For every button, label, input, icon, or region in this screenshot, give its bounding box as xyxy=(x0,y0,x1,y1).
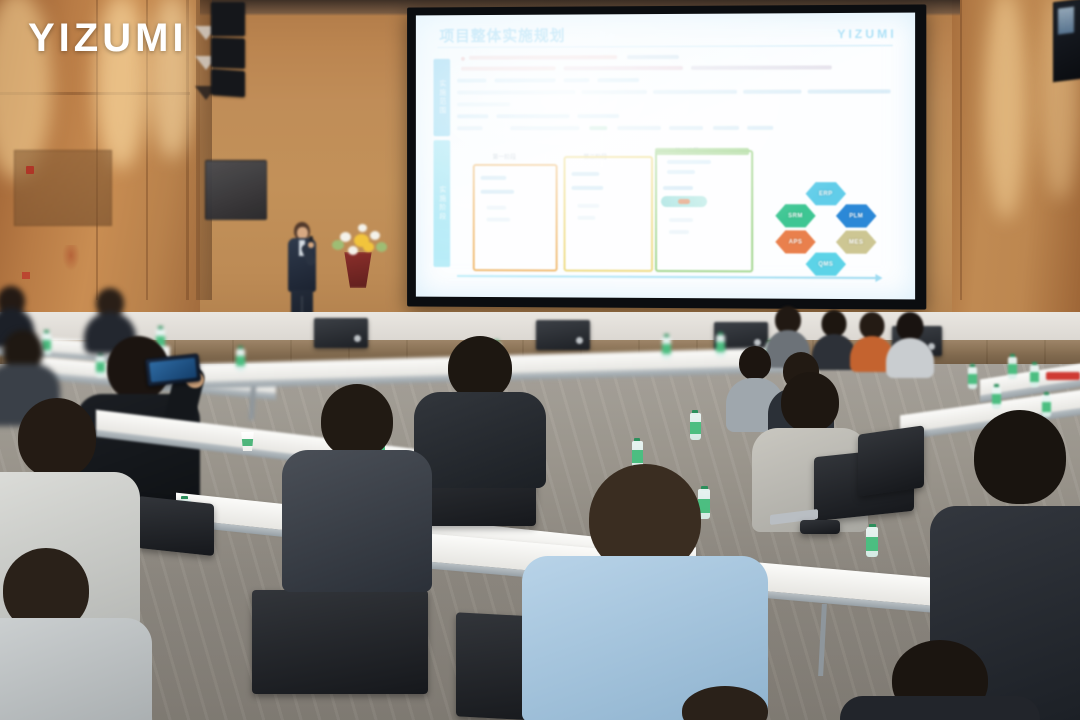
slide-text-line xyxy=(457,90,575,94)
conference-photo: 项目整体实施规划 YIZUMI 实施范围 实施阶段 xyxy=(0,0,1080,720)
audience-member xyxy=(282,384,432,592)
audience-member xyxy=(522,464,768,720)
water-bottle xyxy=(992,384,1001,409)
watermark-logo: YIZUMI xyxy=(28,16,188,61)
audience-member xyxy=(640,686,810,720)
speaker-cabinet xyxy=(211,69,245,97)
slide-text-line xyxy=(597,78,639,82)
module-hexagon-cluster: ERP PLM MES xyxy=(765,182,886,293)
slide-side-label-text: 实施阶段 xyxy=(437,186,447,222)
phase-box-1 xyxy=(473,164,558,272)
phase-text-line xyxy=(667,160,711,164)
side-display-screen xyxy=(1053,0,1080,82)
audience-member xyxy=(840,640,1040,720)
head xyxy=(897,312,924,341)
slide-text-line xyxy=(713,126,739,130)
hex-label: MES xyxy=(849,239,863,245)
hex-aps: APS xyxy=(775,230,815,253)
audience-member xyxy=(886,312,934,378)
phase-label: 第一阶段 xyxy=(492,152,516,161)
phase-text-line xyxy=(667,170,695,174)
slide-text-line xyxy=(469,55,617,60)
slide-text-line xyxy=(494,78,555,82)
stage-monitor-speaker xyxy=(314,318,368,348)
hex-label: SRM xyxy=(788,213,803,219)
phase-box-3-header xyxy=(655,148,749,155)
flower xyxy=(363,242,374,252)
phase-box-3 xyxy=(655,150,753,272)
wall-emblem xyxy=(62,245,80,271)
head xyxy=(18,398,96,478)
wall-marker xyxy=(22,272,30,279)
water-bottle xyxy=(236,346,245,371)
projection-screen: 项目整体实施规划 YIZUMI 实施范围 实施阶段 xyxy=(416,13,915,300)
phase-text-line xyxy=(663,186,693,190)
wall-panel-seam xyxy=(960,0,962,300)
slide-text-line xyxy=(457,102,510,106)
conference-chair xyxy=(858,425,924,496)
phase-text-line xyxy=(577,216,595,220)
head xyxy=(781,372,839,432)
slide-text-line xyxy=(627,55,679,59)
foliage xyxy=(332,240,344,250)
water-bottle xyxy=(690,410,701,440)
torso xyxy=(886,338,934,378)
hex-qms: QMS xyxy=(806,253,846,276)
slide-text-line xyxy=(510,126,579,130)
smartphone xyxy=(145,353,202,386)
head xyxy=(448,336,512,400)
slide-text-line xyxy=(581,90,647,94)
slide-text-line xyxy=(743,90,801,94)
hex-label: ERP xyxy=(819,191,833,197)
slide-side-label-scope: 实施范围 xyxy=(434,59,451,136)
slide-text-line xyxy=(457,114,488,118)
slide-text-line xyxy=(589,126,607,130)
head xyxy=(974,410,1066,504)
audience-member xyxy=(0,548,152,720)
water-bottle xyxy=(968,364,977,389)
red-folder xyxy=(1046,372,1080,380)
phase-text-line xyxy=(669,218,693,222)
flower xyxy=(348,246,358,255)
projection-screen-frame: 项目整体实施规划 YIZUMI 实施范围 实施阶段 xyxy=(407,4,926,309)
emergency-sign xyxy=(26,166,34,174)
presenter-hand xyxy=(308,242,314,248)
hex-plm: PLM xyxy=(836,204,877,227)
water-bottle xyxy=(662,334,671,359)
slide-logo: YIZUMI xyxy=(837,27,897,41)
go-live-pill xyxy=(661,196,707,207)
slide-text-line xyxy=(617,126,661,130)
foliage xyxy=(376,242,387,252)
water-bottle xyxy=(1030,362,1039,387)
wall-mounted-panel xyxy=(205,160,267,220)
hex-label: QMS xyxy=(818,261,833,267)
hex-erp: ERP xyxy=(806,182,846,205)
water-bottle xyxy=(716,332,725,357)
slide-side-label-text: 实施范围 xyxy=(437,80,447,116)
slide-text-line xyxy=(564,78,590,82)
hex-mes: MES xyxy=(836,231,877,254)
wall-panel-seam xyxy=(0,92,190,95)
hex-label: APS xyxy=(789,239,803,245)
slide-text-line xyxy=(653,90,737,94)
torso xyxy=(0,618,152,720)
chair-arm xyxy=(800,520,840,534)
phase-text-line xyxy=(577,204,599,208)
head xyxy=(822,310,847,337)
phase-text-line xyxy=(571,172,599,176)
phase-text-line xyxy=(571,186,603,190)
wall-panel-frame xyxy=(14,150,112,226)
presentation-slide: 项目整体实施规划 YIZUMI 实施范围 实施阶段 xyxy=(416,13,915,300)
hex-srm: SRM xyxy=(775,204,815,227)
slide-side-label-phase: 实施阶段 xyxy=(434,140,451,267)
conference-chair xyxy=(138,496,214,556)
head xyxy=(321,384,393,458)
slide-text-line xyxy=(496,114,569,118)
torso xyxy=(282,450,432,592)
speaker-cabinet xyxy=(211,37,245,68)
flower-bouquet xyxy=(330,222,388,260)
phase-text-line xyxy=(481,190,514,194)
hex-label: PLM xyxy=(849,213,863,219)
water-bottle xyxy=(1008,354,1017,379)
torso xyxy=(840,696,1040,720)
slide-text-line xyxy=(747,126,773,130)
conference-chair xyxy=(252,590,428,694)
slide-text-line xyxy=(457,79,486,83)
phase-text-line xyxy=(481,176,507,180)
side-display-glow xyxy=(1058,7,1074,35)
speaker-cabinet xyxy=(211,2,245,36)
phase-text-line xyxy=(669,230,689,234)
slide-text-line xyxy=(457,126,483,130)
slide-title: 项目整体实施规划 xyxy=(439,25,565,46)
slide-text-line xyxy=(808,89,891,93)
slide-bullet-marker xyxy=(461,57,465,61)
head xyxy=(682,686,768,720)
slide-text-line xyxy=(564,66,683,70)
line-array-speaker xyxy=(205,0,249,120)
slide-text-line xyxy=(577,114,619,118)
head xyxy=(860,312,885,339)
phase-text-line xyxy=(487,218,511,222)
phase-text-line xyxy=(487,206,507,210)
flower xyxy=(358,224,367,232)
slide-text-line xyxy=(669,126,703,130)
slide-text-line xyxy=(691,65,832,70)
slide-text-line xyxy=(461,66,556,70)
flower xyxy=(370,231,380,240)
